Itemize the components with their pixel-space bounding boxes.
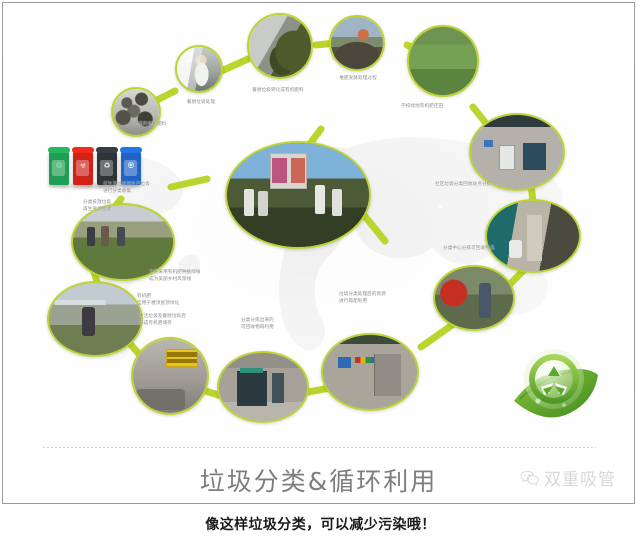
infographic-poster: ♲ ☣ ♻ ♼ 生成的有机肥料 餐厨垃圾处理 餐厨垃圾转化成有机肥料 堆肥发酵处… [0, 0, 641, 552]
label-storage: 生活垃圾及餐厨垃圾后 形成有机肥储存 [139, 313, 223, 326]
watermark-text: 双重吸管 [544, 465, 616, 490]
red-bin[interactable]: ☣ [73, 151, 93, 185]
label-rooftop: 有机肥 全用于楼顶屋顶绿化 [137, 293, 215, 306]
photo-sorting-worker [177, 47, 221, 91]
label-resource: 垃圾分类处理后的资源 进行再配利用 [339, 291, 419, 304]
node-school-lawn[interactable] [407, 25, 479, 97]
wechat-icon [520, 470, 539, 486]
dotted-separator [43, 447, 596, 448]
photo-compost-pile [331, 17, 383, 69]
node-food-waste[interactable] [247, 13, 313, 79]
photo-recycle-station [471, 115, 563, 189]
green-bin-glyph: ♲ [49, 162, 69, 170]
watermark: 双重吸管 [520, 465, 616, 490]
node-storage-room[interactable] [131, 337, 209, 415]
trash-bins-group: ♲ ☣ ♻ ♼ [47, 139, 143, 191]
photo-food-waste [249, 15, 311, 77]
node-community-harvest[interactable] [225, 141, 371, 249]
node-compost-pellets[interactable] [111, 87, 161, 137]
green-bin[interactable]: ♲ [49, 151, 69, 185]
node-collection-room[interactable] [217, 351, 309, 423]
red-bin-glyph: ☣ [73, 162, 93, 170]
photo-school-lawn [409, 27, 477, 95]
black-bin[interactable]: ♻ [97, 151, 117, 185]
node-farm-field[interactable] [71, 203, 175, 281]
blue-bin[interactable]: ♼ [121, 151, 141, 185]
label-school: 学校绿地有机肥还田 [401, 103, 475, 110]
node-equipment-room[interactable] [321, 333, 419, 411]
recycle-leaf-emblem [504, 339, 600, 425]
node-machine-operator[interactable] [433, 265, 515, 331]
photo-machine-operator [435, 267, 513, 329]
label-collection: 分类分拣出来的 可回收物再利用 [241, 317, 313, 330]
node-compost-pile[interactable] [329, 15, 385, 71]
poster-caption: 像这样垃圾分类，可以减少污染哦！ [0, 514, 641, 534]
black-bin-glyph: ♻ [97, 162, 117, 170]
infographic-card: ♲ ☣ ♻ ♼ 生成的有机肥料 餐厨垃圾处理 餐厨垃圾转化成有机肥料 堆肥发酵处… [2, 2, 635, 504]
node-recycle-station[interactable] [469, 113, 565, 191]
label-food-to-fert: 餐厨垃圾转化成有机肥料 [235, 87, 321, 94]
node-rooftop-garden[interactable] [47, 281, 143, 357]
label-compost-pile: 堆肥发酵处理过程 [325, 75, 391, 82]
photo-compost-pellets [113, 89, 159, 135]
photo-rooftop-garden [49, 283, 141, 355]
node-sorting-worker[interactable] [175, 45, 223, 93]
photo-equipment-room [323, 335, 417, 409]
label-kitchen: 餐厨垃圾处理 [171, 99, 231, 106]
blue-bin-glyph: ♼ [121, 162, 141, 170]
node-sorting-facility[interactable] [485, 199, 581, 273]
